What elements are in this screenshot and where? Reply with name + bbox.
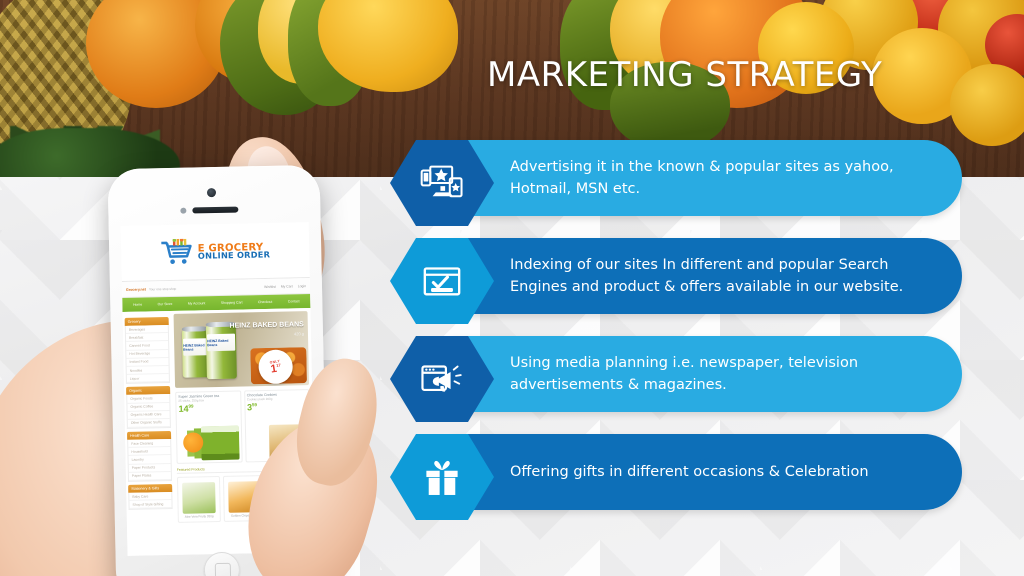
app-logo[interactable]: E GROCERY ONLINE ORDER (160, 237, 271, 267)
row-line-2: Hotmail, MSN etc. (510, 178, 894, 200)
strategy-rows: Advertising it in the known & popular si… (390, 140, 970, 532)
can-label-text: HEINZ Baked Beans (183, 343, 207, 352)
row-text: Advertising it in the known & popular si… (510, 140, 940, 216)
promo-title: HEINZ BAKED BEANS (229, 321, 303, 330)
badge-cents: 17 (276, 362, 281, 368)
product-cents: 99 (188, 404, 193, 409)
checkbox-form-icon (417, 256, 467, 306)
row-line-1: Using media planning i.e. newspaper, tel… (510, 352, 858, 374)
page-title: MARKETING STRATEGY (487, 55, 882, 95)
strategy-row-indexing[interactable]: Indexing of our sites In different and p… (390, 238, 970, 314)
logo-line-2: ONLINE ORDER (198, 251, 270, 261)
util-brand: Grocery.net (126, 287, 146, 291)
nav-item-our-store[interactable]: Our Store (158, 302, 173, 306)
featured-card[interactable]: Aloe Vera Fruity 330g (177, 476, 221, 523)
sidebar-list-health[interactable]: Face Cleaning Household Laundry Paper Pr… (127, 439, 172, 482)
strategy-row-advertising[interactable]: Advertising it in the known & popular si… (390, 140, 970, 216)
home-button[interactable] (204, 552, 241, 576)
sidebar-item[interactable]: Paper Plates (129, 472, 171, 481)
front-camera-icon (207, 188, 216, 197)
can-label-text: HEINZ Baked Beans (207, 338, 235, 347)
util-tagline: Your one stop shop (149, 286, 176, 291)
row-text: Indexing of our sites In different and p… (510, 238, 940, 314)
nav-item-contact[interactable]: Contact (288, 299, 300, 303)
heinz-can: HEINZ Baked Beans (206, 325, 237, 380)
earpiece-speaker (192, 207, 238, 214)
megaphone-browser-icon (417, 354, 467, 404)
nav-item-home[interactable]: Home (133, 303, 142, 307)
nav-item-my-account[interactable]: My Account (188, 301, 206, 305)
product-thumbnail (200, 426, 239, 461)
devices-star-icon (417, 158, 467, 208)
util-link-wishlist[interactable]: Wishlist (264, 284, 276, 288)
app-header: E GROCERY ONLINE ORDER (121, 222, 310, 282)
sidebar-item[interactable]: Other Organic Stuffs (128, 419, 170, 428)
sidebar-list-stationery[interactable]: Baby Care Shop of Style Gifting (128, 492, 172, 510)
promo-banner[interactable]: HEINZ Baked Beans HEINZ Baked Beans HEIN… (174, 311, 310, 388)
product-price: 14 (178, 404, 188, 414)
strategy-row-media-planning[interactable]: Using media planning i.e. newspaper, tel… (390, 336, 970, 412)
product-card[interactable]: Super Jasmine Green tea 25 sticks, 250g … (175, 391, 242, 464)
proximity-sensor-icon (180, 208, 186, 214)
sidebar-list-organic[interactable]: Organic Foods Organic Coffee Organic Hea… (126, 394, 171, 429)
featured-thumbnail (182, 482, 215, 514)
row-line-1: Offering gifts in different occasions & … (510, 461, 869, 483)
sidebar-item[interactable]: Shop of Style Gifting (129, 500, 171, 509)
util-link-login[interactable]: Login (298, 284, 306, 288)
heinz-can: HEINZ Baked Beans (182, 329, 209, 378)
util-link-cart[interactable]: My Cart (281, 284, 293, 288)
marketing-strategy-slide: MARKETING STRATEGY (0, 0, 1024, 576)
yellow-tomato (950, 64, 1024, 146)
product-cents: 59 (252, 403, 257, 408)
featured-caption: Aloe Vera Fruity 330g (179, 514, 220, 522)
row-line-2: advertisements & magazines. (510, 374, 858, 396)
row-text: Using media planning i.e. newspaper, tel… (510, 336, 940, 412)
row-line-1: Advertising it in the known & popular si… (510, 156, 894, 178)
nav-item-checkout[interactable]: Checkout (258, 300, 272, 304)
row-line-1: Indexing of our sites In different and p… (510, 254, 903, 276)
hand-holding-phone: E GROCERY ONLINE ORDER Grocery.net Your … (0, 120, 420, 576)
app-sidebar[interactable]: Grocery Beverages Breakfast Canned Food … (122, 311, 175, 556)
row-line-2: Engines and product & offers available i… (510, 276, 903, 298)
nav-item-shopping-cart[interactable]: Shopping Cart (221, 300, 243, 304)
promo-subtitle: 420 g (294, 331, 304, 336)
row-text: Offering gifts in different occasions & … (510, 434, 940, 510)
sidebar-list-grocery[interactable]: Beverages Breakfast Canned Food Hot Beve… (125, 325, 170, 384)
gift-box-icon (417, 452, 467, 502)
sidebar-item[interactable]: Liquor (127, 374, 169, 383)
strategy-row-gifts[interactable]: Offering gifts in different occasions & … (390, 434, 970, 510)
shopping-cart-icon (160, 238, 196, 266)
